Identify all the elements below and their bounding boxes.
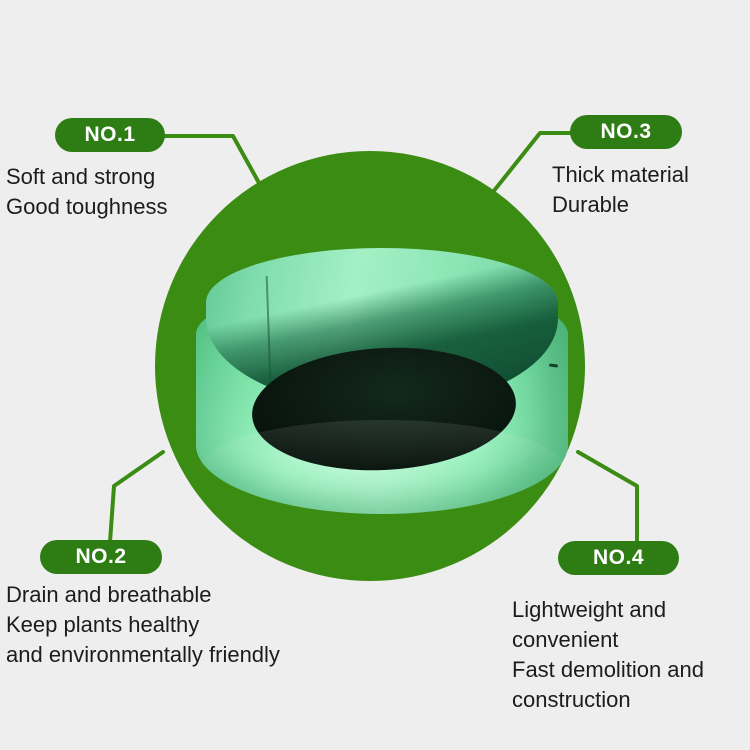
badge-no-2: NO.2 xyxy=(40,540,162,574)
product-feature-infographic: NO.1 Soft and strong Good toughness NO.3… xyxy=(0,0,750,750)
badge-no-1: NO.1 xyxy=(55,118,165,152)
badge-no-4: NO.4 xyxy=(558,541,679,575)
feature-text-2: Drain and breathable Keep plants healthy… xyxy=(6,580,406,670)
badge-no-1-label: NO.1 xyxy=(84,123,135,147)
connector-line-2 xyxy=(110,452,163,542)
feature-text-4: Lightweight and convenient Fast demoliti… xyxy=(512,595,750,715)
feature-text-3: Thick material Durable xyxy=(552,160,750,220)
feature-text-1: Soft and strong Good toughness xyxy=(6,162,306,222)
connector-line-4 xyxy=(578,452,637,542)
badge-no-3: NO.3 xyxy=(570,115,682,149)
badge-no-3-label: NO.3 xyxy=(600,120,651,144)
badge-no-2-label: NO.2 xyxy=(75,545,126,569)
badge-no-4-label: NO.4 xyxy=(593,546,644,570)
grow-bag-product-image xyxy=(196,248,568,540)
